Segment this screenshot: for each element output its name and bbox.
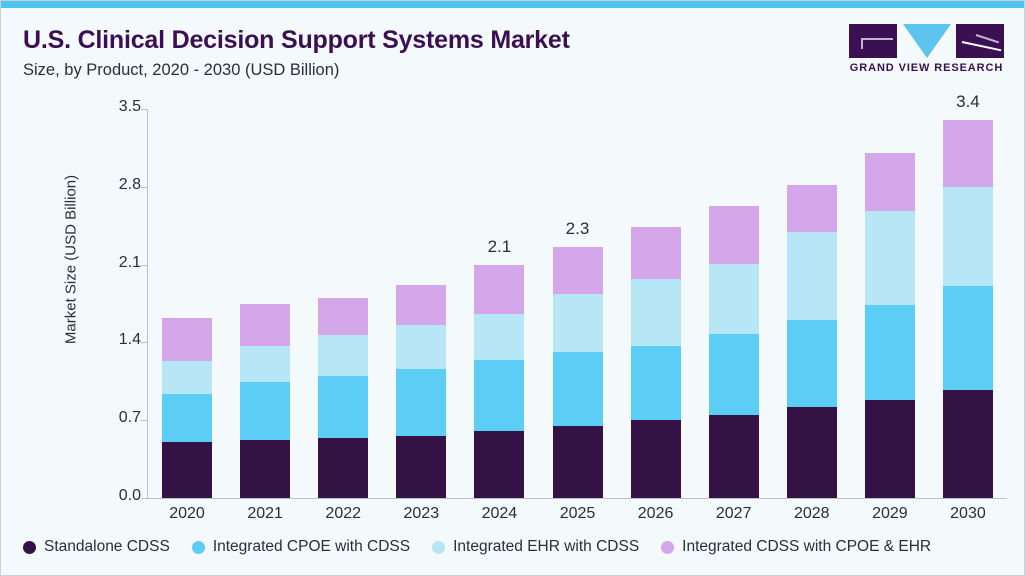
bar-segment[interactable] [474,360,524,431]
bar-segment[interactable] [631,227,681,279]
bar-segment[interactable] [709,334,759,415]
bar-segment[interactable] [631,346,681,420]
bar-segment[interactable] [631,420,681,498]
bar-segment[interactable] [318,298,368,335]
bar-segment[interactable] [240,440,290,498]
bar-segment[interactable] [943,390,993,498]
y-axis-tick-label: 0.0 [97,487,141,505]
bar-group[interactable]: 2.3 [553,109,603,498]
bar-value-label: 2.3 [566,219,590,239]
y-axis-tick-mark [141,109,148,110]
stacked-bar[interactable] [396,285,446,498]
bar-group[interactable] [162,109,212,498]
stacked-bar[interactable] [943,120,993,498]
stacked-bar[interactable] [631,227,681,498]
bar-segment[interactable] [787,407,837,498]
x-axis-tick-label: 2023 [381,505,461,523]
bar-segment[interactable] [553,352,603,425]
x-axis-tick-label: 2025 [538,505,618,523]
stacked-bar[interactable] [553,247,603,498]
bar-segment[interactable] [865,153,915,211]
bar-segment[interactable] [865,211,915,304]
bar-segment[interactable] [162,361,212,393]
y-axis-tick-label: 2.1 [97,254,141,272]
bar-segment[interactable] [553,294,603,353]
legend-item[interactable]: Integrated EHR with CDSS [432,538,639,556]
x-axis-tick-label: 2024 [459,505,539,523]
x-axis-tick-label: 2030 [928,505,1008,523]
legend-swatch-icon [192,541,205,554]
bar-segment[interactable] [474,314,524,361]
stacked-bar[interactable] [865,153,915,498]
bar-segment[interactable] [318,335,368,376]
y-axis-tick-mark [141,187,148,188]
chart-plot-area: Market Size (USD Billion) 0.00.71.42.12.… [1,1,1025,576]
bar-segment[interactable] [318,376,368,438]
y-axis-tick-mark [141,420,148,421]
bar-segment[interactable] [240,382,290,440]
bar-segment[interactable] [787,185,837,233]
legend-item[interactable]: Integrated CPOE with CDSS [192,538,410,556]
bar-segment[interactable] [162,318,212,361]
legend-label: Integrated CDSS with CPOE & EHR [682,538,931,556]
bar-segment[interactable] [709,264,759,334]
bar-group[interactable] [865,109,915,498]
y-axis-tick-mark [141,265,148,266]
bar-segment[interactable] [162,442,212,498]
bar-group[interactable] [240,109,290,498]
bar-segment[interactable] [318,438,368,498]
bar-group[interactable]: 2.1 [474,109,524,498]
y-axis-tick-label: 0.7 [97,409,141,427]
legend-label: Integrated CPOE with CDSS [213,538,410,556]
legend-swatch-icon [661,541,674,554]
bar-segment[interactable] [709,206,759,264]
bar-segment[interactable] [787,232,837,320]
bar-group[interactable] [631,109,681,498]
y-axis-tick-label: 2.8 [97,176,141,194]
bar-group[interactable] [709,109,759,498]
bar-segment[interactable] [631,279,681,346]
bar-segment[interactable] [474,431,524,498]
stacked-bar[interactable] [162,318,212,498]
bar-segment[interactable] [865,400,915,498]
bar-group[interactable] [396,109,446,498]
x-axis-tick-label: 2027 [694,505,774,523]
bar-segment[interactable] [865,305,915,401]
bar-group[interactable] [787,109,837,498]
bar-segment[interactable] [709,415,759,498]
stacked-bar[interactable] [474,265,524,498]
bar-segment[interactable] [396,285,446,325]
x-axis-tick-label: 2026 [616,505,696,523]
legend-item[interactable]: Integrated CDSS with CPOE & EHR [661,538,931,556]
legend-item[interactable]: Standalone CDSS [23,538,170,556]
stacked-bar[interactable] [787,185,837,498]
chart-legend: Standalone CDSSIntegrated CPOE with CDSS… [23,538,931,556]
bar-segment[interactable] [787,320,837,407]
bar-segment[interactable] [474,265,524,314]
legend-label: Integrated EHR with CDSS [453,538,639,556]
bar-segment[interactable] [943,187,993,286]
x-axis-tick-label: 2022 [303,505,383,523]
legend-swatch-icon [432,541,445,554]
bar-segment[interactable] [396,436,446,498]
bar-group[interactable]: 3.4 [943,109,993,498]
x-axis-tick-label: 2028 [772,505,852,523]
bar-segment[interactable] [240,304,290,346]
bar-value-label: 3.4 [956,92,980,112]
bar-segment[interactable] [162,394,212,443]
y-axis-tick-mark [141,498,148,499]
bar-value-label: 2.1 [488,237,512,257]
stacked-bar[interactable] [240,304,290,499]
bar-segment[interactable] [943,120,993,187]
bar-group[interactable] [318,109,368,498]
bar-segment[interactable] [943,286,993,390]
legend-swatch-icon [23,541,36,554]
y-axis-line [147,109,148,499]
stacked-bar[interactable] [318,298,368,498]
bar-segment[interactable] [553,247,603,294]
x-axis-tick-label: 2020 [147,505,227,523]
y-axis-title: Market Size (USD Billion) [63,150,80,370]
x-axis-tick-label: 2021 [225,505,305,523]
y-axis-tick-label: 3.5 [97,98,141,116]
bar-segment[interactable] [240,346,290,383]
stacked-bar[interactable] [709,206,759,498]
bar-segment[interactable] [396,369,446,436]
bar-segment[interactable] [396,325,446,369]
legend-label: Standalone CDSS [44,538,170,556]
y-axis-tick-label: 1.4 [97,331,141,349]
x-axis-line [147,498,1007,499]
chart-page: U.S. Clinical Decision Support Systems M… [0,0,1025,576]
bar-segment[interactable] [553,426,603,498]
y-axis-tick-mark [141,342,148,343]
x-axis-tick-label: 2029 [850,505,930,523]
